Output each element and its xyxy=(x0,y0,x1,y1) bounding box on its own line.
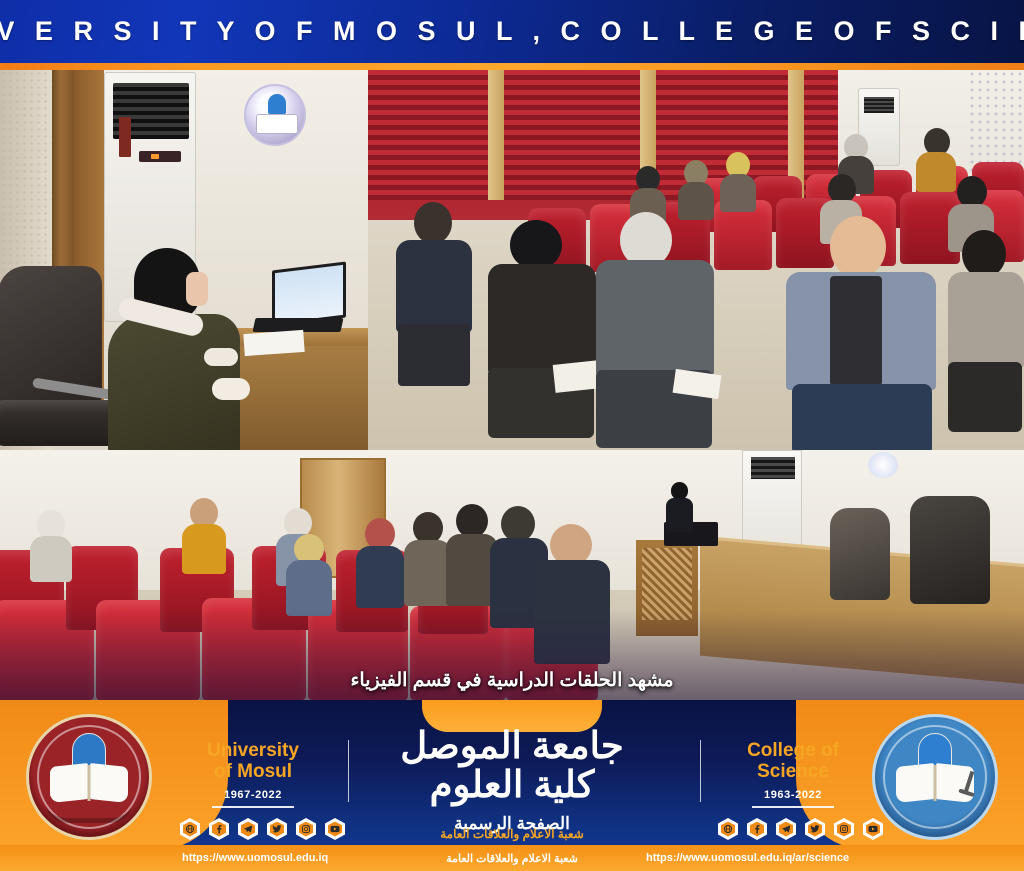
photo-auditorium-audience xyxy=(368,70,1024,450)
attendee-shirt xyxy=(830,276,882,386)
attendee-head xyxy=(962,230,1006,278)
university-name-line2: of Mosul xyxy=(176,761,330,782)
attendee xyxy=(286,534,332,614)
social-links-left[interactable] xyxy=(180,818,345,840)
page-title: U N I V E R S I T Y O F M O S U L , C O … xyxy=(0,16,1024,47)
twitter-icon[interactable] xyxy=(805,818,825,840)
attendee-head xyxy=(456,504,488,538)
college-name-line1: College of xyxy=(716,740,870,761)
ac-display xyxy=(139,151,181,162)
underline-rule xyxy=(212,806,294,808)
attendee-body xyxy=(396,240,472,332)
book-spine xyxy=(88,765,91,801)
book-page-right xyxy=(90,763,128,803)
instagram-icon[interactable] xyxy=(834,818,854,840)
book-page-left xyxy=(50,763,88,803)
facebook-icon[interactable] xyxy=(747,818,767,840)
footer-divider-right xyxy=(700,740,701,802)
executive-chair xyxy=(830,508,890,600)
attendee xyxy=(356,518,404,606)
attendee xyxy=(182,498,226,572)
arabic-college-name: كلية العلوم xyxy=(362,765,662,804)
executive-chair xyxy=(910,496,990,604)
attendee-body xyxy=(720,174,756,212)
telegram-icon[interactable] xyxy=(776,818,796,840)
attendee-head xyxy=(830,216,886,278)
attendee xyxy=(596,212,714,440)
seal-ring-text xyxy=(891,801,979,823)
twitter-icon[interactable] xyxy=(267,818,287,840)
college-url[interactable]: https://www.uomosul.edu.iq/ar/science xyxy=(646,852,849,864)
presenter xyxy=(664,482,694,530)
arabic-university-name: جامعة الموصل xyxy=(362,726,662,765)
social-links-right[interactable] xyxy=(718,818,883,840)
website-icon[interactable] xyxy=(180,818,200,840)
youtube-icon[interactable] xyxy=(325,818,345,840)
page-header: U N I V E R S I T Y O F M O S U L , C O … xyxy=(0,0,1024,63)
university-of-mosul-seal xyxy=(26,714,152,840)
arabic-department: شعبة الاعلام والعلاقات العامة xyxy=(347,827,677,841)
attendee-body xyxy=(404,540,452,606)
college-of-science-seal xyxy=(872,714,998,840)
laptop-screen xyxy=(272,261,346,326)
seal-inner-ring xyxy=(883,725,987,829)
college-name-line2: Science xyxy=(716,761,870,782)
attendee-cap xyxy=(510,220,562,270)
attendee-body xyxy=(948,272,1024,368)
header-accent-rule xyxy=(0,63,1024,70)
footer-url-bar: https://www.uomosul.edu.iq شعبة الاعلام … xyxy=(0,845,1024,871)
attendee xyxy=(720,152,756,210)
university-url[interactable]: https://www.uomosul.edu.iq xyxy=(182,852,328,864)
attendee-body xyxy=(30,536,72,582)
ac-label-strip xyxy=(119,117,131,157)
attendee xyxy=(948,230,1024,430)
wall-column xyxy=(488,70,504,200)
attendee-foreground xyxy=(786,216,936,450)
instagram-icon[interactable] xyxy=(296,818,316,840)
attendee-body xyxy=(596,260,714,376)
person-face xyxy=(186,272,208,306)
university-years: 1967-2022 xyxy=(176,789,330,801)
attendee-head xyxy=(414,202,452,244)
seal-inner-ring xyxy=(37,725,141,829)
attendee-legs xyxy=(948,362,1022,432)
book-page-left xyxy=(896,763,934,803)
wall-emblem-icon xyxy=(868,452,898,478)
website-icon[interactable] xyxy=(718,818,738,840)
attendee-body xyxy=(286,560,332,616)
underline-rule xyxy=(752,806,834,808)
telegram-icon[interactable] xyxy=(238,818,258,840)
photo-collage: مشهد الحلقات الدراسية في قسم الفيزياء xyxy=(0,70,1024,700)
photo-woman-at-laptop xyxy=(0,70,368,450)
department-label: شعبة الاعلام والعلاقات العامة xyxy=(446,852,578,865)
footer-college-block: College of Science 1963-2022 xyxy=(716,740,870,808)
seal-ring-text xyxy=(45,801,133,823)
attendee-body xyxy=(356,546,404,608)
attendee-legs xyxy=(398,324,470,386)
wall-emblem-icon xyxy=(244,84,306,146)
person-seated xyxy=(108,248,268,450)
youtube-icon[interactable] xyxy=(863,818,883,840)
photo-caption: مشهد الحلقات الدراسية في قسم الفيزياء xyxy=(0,669,1024,692)
attendee-body xyxy=(182,524,226,574)
attendee xyxy=(488,220,596,430)
person-hand-upper xyxy=(204,348,238,366)
footer-arabic-block: جامعة الموصل كلية العلوم الصفحة الرسمية xyxy=(362,726,662,834)
attendee xyxy=(678,160,714,218)
person-hand-lower xyxy=(212,378,250,400)
presenter-body xyxy=(666,498,693,532)
photo-lecture-hall-wide: مشهد الحلقات الدراسية في قسم الفيزياء xyxy=(0,450,1024,700)
page-footer: University of Mosul 1967-2022 College of… xyxy=(0,700,1024,871)
college-years: 1963-2022 xyxy=(716,789,870,801)
attendee-body xyxy=(488,264,596,374)
attendee xyxy=(404,512,452,604)
facebook-icon[interactable] xyxy=(209,818,229,840)
attendee-cap xyxy=(501,506,535,542)
footer-divider-left xyxy=(348,740,349,802)
footer-university-block: University of Mosul 1967-2022 xyxy=(176,740,330,808)
attendee-jeans xyxy=(792,384,932,450)
university-name-line1: University xyxy=(176,740,330,761)
attendee xyxy=(30,510,72,580)
attendee xyxy=(396,202,472,382)
book-spine xyxy=(934,765,937,801)
